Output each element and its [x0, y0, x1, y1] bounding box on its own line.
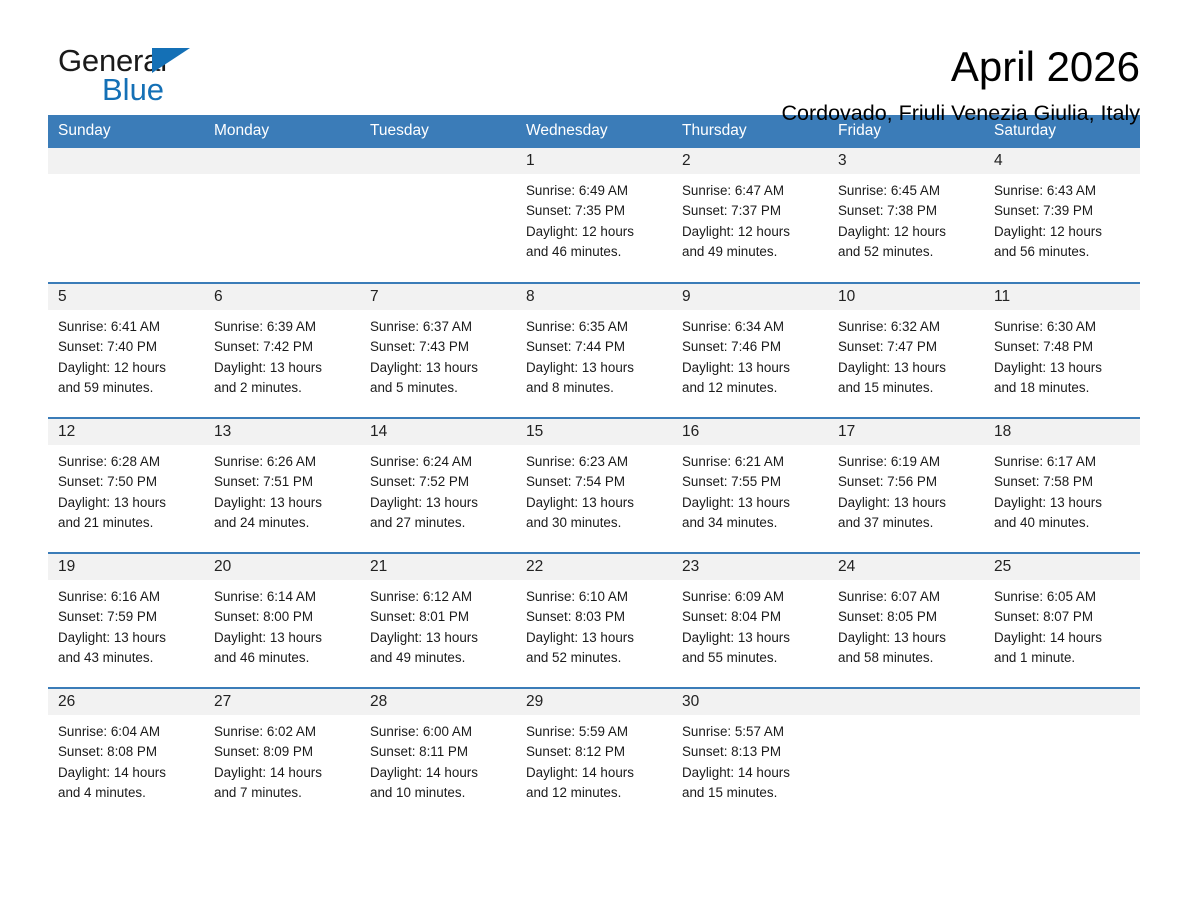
daylight-text-line2: and 52 minutes.: [838, 242, 974, 262]
daylight-text-line2: and 30 minutes.: [526, 513, 662, 533]
calendar-day-cell[interactable]: 28Sunrise: 6:00 AMSunset: 8:11 PMDayligh…: [360, 688, 516, 823]
daylight-text-line2: and 10 minutes.: [370, 783, 506, 803]
calendar-week-row: 1Sunrise: 6:49 AMSunset: 7:35 PMDaylight…: [48, 148, 1140, 283]
sunrise-text: Sunrise: 6:41 AM: [58, 317, 194, 337]
day-details: Sunrise: 6:41 AMSunset: 7:40 PMDaylight:…: [48, 310, 204, 399]
daylight-text-line1: Daylight: 13 hours: [370, 358, 506, 378]
sunset-text: Sunset: 8:03 PM: [526, 607, 662, 627]
sunrise-text: Sunrise: 6:09 AM: [682, 587, 818, 607]
daylight-text-line2: and 21 minutes.: [58, 513, 194, 533]
calendar-week-row: 19Sunrise: 6:16 AMSunset: 7:59 PMDayligh…: [48, 553, 1140, 688]
day-number: 12: [48, 419, 204, 445]
sunset-text: Sunset: 8:04 PM: [682, 607, 818, 627]
sunset-text: Sunset: 7:39 PM: [994, 201, 1130, 221]
day-number: 8: [516, 284, 672, 310]
sunrise-text: Sunrise: 6:16 AM: [58, 587, 194, 607]
daylight-text-line2: and 18 minutes.: [994, 378, 1130, 398]
sunset-text: Sunset: 7:55 PM: [682, 472, 818, 492]
day-details: Sunrise: 6:30 AMSunset: 7:48 PMDaylight:…: [984, 310, 1140, 399]
daylight-text-line1: Daylight: 12 hours: [526, 222, 662, 242]
day-number: 27: [204, 689, 360, 715]
page-header: General Blue April 2026 Cordovado, Friul…: [0, 0, 1188, 115]
sunset-text: Sunset: 7:44 PM: [526, 337, 662, 357]
day-number: 23: [672, 554, 828, 580]
sunrise-text: Sunrise: 6:00 AM: [370, 722, 506, 742]
calendar-day-cell[interactable]: 8Sunrise: 6:35 AMSunset: 7:44 PMDaylight…: [516, 283, 672, 418]
daylight-text-line1: Daylight: 13 hours: [526, 493, 662, 513]
day-number: 13: [204, 419, 360, 445]
sunset-text: Sunset: 7:50 PM: [58, 472, 194, 492]
sunset-text: Sunset: 8:12 PM: [526, 742, 662, 762]
sunset-text: Sunset: 7:47 PM: [838, 337, 974, 357]
day-details: Sunrise: 6:39 AMSunset: 7:42 PMDaylight:…: [204, 310, 360, 399]
sunrise-text: Sunrise: 6:12 AM: [370, 587, 506, 607]
day-details: Sunrise: 6:16 AMSunset: 7:59 PMDaylight:…: [48, 580, 204, 669]
calendar-day-cell[interactable]: 17Sunrise: 6:19 AMSunset: 7:56 PMDayligh…: [828, 418, 984, 553]
sunrise-text: Sunrise: 6:02 AM: [214, 722, 350, 742]
calendar-day-cell-empty: [48, 148, 204, 283]
daylight-text-line2: and 46 minutes.: [214, 648, 350, 668]
day-number: [828, 689, 984, 715]
sunrise-text: Sunrise: 6:17 AM: [994, 452, 1130, 472]
calendar-day-cell[interactable]: 25Sunrise: 6:05 AMSunset: 8:07 PMDayligh…: [984, 553, 1140, 688]
calendar-day-cell[interactable]: 6Sunrise: 6:39 AMSunset: 7:42 PMDaylight…: [204, 283, 360, 418]
day-details: Sunrise: 6:49 AMSunset: 7:35 PMDaylight:…: [516, 174, 672, 263]
daylight-text-line2: and 52 minutes.: [526, 648, 662, 668]
day-details: Sunrise: 6:09 AMSunset: 8:04 PMDaylight:…: [672, 580, 828, 669]
calendar-day-cell-empty: [360, 148, 516, 283]
day-number: [984, 689, 1140, 715]
daylight-text-line2: and 58 minutes.: [838, 648, 974, 668]
daylight-text-line2: and 24 minutes.: [214, 513, 350, 533]
daylight-text-line1: Daylight: 12 hours: [994, 222, 1130, 242]
day-details: Sunrise: 6:04 AMSunset: 8:08 PMDaylight:…: [48, 715, 204, 804]
sunrise-text: Sunrise: 6:26 AM: [214, 452, 350, 472]
sunrise-text: Sunrise: 6:19 AM: [838, 452, 974, 472]
calendar-day-cell[interactable]: 30Sunrise: 5:57 AMSunset: 8:13 PMDayligh…: [672, 688, 828, 823]
daylight-text-line2: and 4 minutes.: [58, 783, 194, 803]
day-details: Sunrise: 6:34 AMSunset: 7:46 PMDaylight:…: [672, 310, 828, 399]
day-number: 9: [672, 284, 828, 310]
sunset-text: Sunset: 7:38 PM: [838, 201, 974, 221]
sunrise-text: Sunrise: 6:47 AM: [682, 181, 818, 201]
logo-text-blue: Blue: [102, 74, 164, 105]
daylight-text-line1: Daylight: 14 hours: [682, 763, 818, 783]
sunset-text: Sunset: 8:07 PM: [994, 607, 1130, 627]
daylight-text-line1: Daylight: 13 hours: [214, 493, 350, 513]
sunset-text: Sunset: 8:05 PM: [838, 607, 974, 627]
sunrise-text: Sunrise: 6:23 AM: [526, 452, 662, 472]
weekday-header-tuesday: Tuesday: [360, 115, 516, 148]
calendar-day-cell[interactable]: 29Sunrise: 5:59 AMSunset: 8:12 PMDayligh…: [516, 688, 672, 823]
daylight-text-line1: Daylight: 12 hours: [682, 222, 818, 242]
day-number: 28: [360, 689, 516, 715]
sunset-text: Sunset: 7:56 PM: [838, 472, 974, 492]
day-details: Sunrise: 6:37 AMSunset: 7:43 PMDaylight:…: [360, 310, 516, 399]
calendar-day-cell[interactable]: 21Sunrise: 6:12 AMSunset: 8:01 PMDayligh…: [360, 553, 516, 688]
sunrise-text: Sunrise: 6:10 AM: [526, 587, 662, 607]
sunrise-text: Sunrise: 6:07 AM: [838, 587, 974, 607]
sunset-text: Sunset: 7:40 PM: [58, 337, 194, 357]
day-number: 29: [516, 689, 672, 715]
daylight-text-line1: Daylight: 13 hours: [994, 358, 1130, 378]
sunrise-text: Sunrise: 6:24 AM: [370, 452, 506, 472]
sunset-text: Sunset: 7:35 PM: [526, 201, 662, 221]
calendar-day-cell[interactable]: 18Sunrise: 6:17 AMSunset: 7:58 PMDayligh…: [984, 418, 1140, 553]
daylight-text-line1: Daylight: 14 hours: [370, 763, 506, 783]
calendar-container: Sunday Monday Tuesday Wednesday Thursday…: [48, 115, 1140, 823]
day-details: Sunrise: 6:24 AMSunset: 7:52 PMDaylight:…: [360, 445, 516, 534]
sunrise-text: Sunrise: 6:37 AM: [370, 317, 506, 337]
weekday-header-wednesday: Wednesday: [516, 115, 672, 148]
daylight-text-line1: Daylight: 13 hours: [526, 358, 662, 378]
day-number: [360, 148, 516, 174]
location-subtitle: Cordovado, Friuli Venezia Giulia, Italy: [781, 101, 1140, 126]
sunrise-text: Sunrise: 5:59 AM: [526, 722, 662, 742]
daylight-text-line2: and 55 minutes.: [682, 648, 818, 668]
daylight-text-line2: and 34 minutes.: [682, 513, 818, 533]
sunset-text: Sunset: 7:43 PM: [370, 337, 506, 357]
day-details: Sunrise: 5:59 AMSunset: 8:12 PMDaylight:…: [516, 715, 672, 804]
day-number: 10: [828, 284, 984, 310]
daylight-text-line2: and 8 minutes.: [526, 378, 662, 398]
sunset-text: Sunset: 8:08 PM: [58, 742, 194, 762]
day-details: Sunrise: 6:26 AMSunset: 7:51 PMDaylight:…: [204, 445, 360, 534]
daylight-text-line2: and 27 minutes.: [370, 513, 506, 533]
day-details: Sunrise: 6:17 AMSunset: 7:58 PMDaylight:…: [984, 445, 1140, 534]
daylight-text-line2: and 15 minutes.: [838, 378, 974, 398]
calendar-day-cell[interactable]: 11Sunrise: 6:30 AMSunset: 7:48 PMDayligh…: [984, 283, 1140, 418]
sunset-text: Sunset: 7:46 PM: [682, 337, 818, 357]
daylight-text-line1: Daylight: 13 hours: [838, 493, 974, 513]
daylight-text-line1: Daylight: 13 hours: [838, 628, 974, 648]
sunset-text: Sunset: 8:09 PM: [214, 742, 350, 762]
daylight-text-line2: and 5 minutes.: [370, 378, 506, 398]
day-details: Sunrise: 6:05 AMSunset: 8:07 PMDaylight:…: [984, 580, 1140, 669]
day-number: 25: [984, 554, 1140, 580]
calendar-day-cell[interactable]: 20Sunrise: 6:14 AMSunset: 8:00 PMDayligh…: [204, 553, 360, 688]
calendar-day-cell[interactable]: 15Sunrise: 6:23 AMSunset: 7:54 PMDayligh…: [516, 418, 672, 553]
day-number: 21: [360, 554, 516, 580]
daylight-text-line2: and 43 minutes.: [58, 648, 194, 668]
calendar-day-cell[interactable]: 12Sunrise: 6:28 AMSunset: 7:50 PMDayligh…: [48, 418, 204, 553]
title-block: April 2026 Cordovado, Friuli Venezia Giu…: [781, 45, 1140, 126]
calendar-week-row: 26Sunrise: 6:04 AMSunset: 8:08 PMDayligh…: [48, 688, 1140, 823]
calendar-day-cell[interactable]: 1Sunrise: 6:49 AMSunset: 7:35 PMDaylight…: [516, 148, 672, 283]
daylight-text-line2: and 49 minutes.: [370, 648, 506, 668]
daylight-text-line1: Daylight: 13 hours: [682, 628, 818, 648]
daylight-text-line1: Daylight: 13 hours: [214, 628, 350, 648]
calendar-day-cell[interactable]: 13Sunrise: 6:26 AMSunset: 7:51 PMDayligh…: [204, 418, 360, 553]
calendar-day-cell[interactable]: 16Sunrise: 6:21 AMSunset: 7:55 PMDayligh…: [672, 418, 828, 553]
sunrise-text: Sunrise: 6:32 AM: [838, 317, 974, 337]
calendar-day-cell[interactable]: 19Sunrise: 6:16 AMSunset: 7:59 PMDayligh…: [48, 553, 204, 688]
sunset-text: Sunset: 8:00 PM: [214, 607, 350, 627]
day-number: 30: [672, 689, 828, 715]
sunrise-text: Sunrise: 6:14 AM: [214, 587, 350, 607]
day-details: Sunrise: 6:00 AMSunset: 8:11 PMDaylight:…: [360, 715, 516, 804]
sunrise-text: Sunrise: 6:21 AM: [682, 452, 818, 472]
day-number: 26: [48, 689, 204, 715]
daylight-text-line2: and 12 minutes.: [526, 783, 662, 803]
logo-triangle-icon: [152, 48, 190, 73]
calendar-week-row: 12Sunrise: 6:28 AMSunset: 7:50 PMDayligh…: [48, 418, 1140, 553]
calendar-week-row: 5Sunrise: 6:41 AMSunset: 7:40 PMDaylight…: [48, 283, 1140, 418]
day-number: 1: [516, 148, 672, 174]
sunrise-text: Sunrise: 6:39 AM: [214, 317, 350, 337]
sunset-text: Sunset: 7:59 PM: [58, 607, 194, 627]
day-number: 22: [516, 554, 672, 580]
daylight-text-line1: Daylight: 13 hours: [838, 358, 974, 378]
daylight-text-line1: Daylight: 13 hours: [994, 493, 1130, 513]
day-details: Sunrise: 6:21 AMSunset: 7:55 PMDaylight:…: [672, 445, 828, 534]
daylight-text-line1: Daylight: 13 hours: [370, 493, 506, 513]
day-number: [48, 148, 204, 174]
day-details: Sunrise: 6:02 AMSunset: 8:09 PMDaylight:…: [204, 715, 360, 804]
day-details: Sunrise: 6:47 AMSunset: 7:37 PMDaylight:…: [672, 174, 828, 263]
sunset-text: Sunset: 7:42 PM: [214, 337, 350, 357]
daylight-text-line1: Daylight: 13 hours: [526, 628, 662, 648]
calendar-day-cell[interactable]: 24Sunrise: 6:07 AMSunset: 8:05 PMDayligh…: [828, 553, 984, 688]
day-number: 20: [204, 554, 360, 580]
day-number: 24: [828, 554, 984, 580]
calendar-day-cell[interactable]: 23Sunrise: 6:09 AMSunset: 8:04 PMDayligh…: [672, 553, 828, 688]
calendar-day-cell[interactable]: 2Sunrise: 6:47 AMSunset: 7:37 PMDaylight…: [672, 148, 828, 283]
sunrise-text: Sunrise: 6:43 AM: [994, 181, 1130, 201]
daylight-text-line2: and 46 minutes.: [526, 242, 662, 262]
day-details: Sunrise: 6:19 AMSunset: 7:56 PMDaylight:…: [828, 445, 984, 534]
day-details: Sunrise: 6:07 AMSunset: 8:05 PMDaylight:…: [828, 580, 984, 669]
day-details: Sunrise: 6:12 AMSunset: 8:01 PMDaylight:…: [360, 580, 516, 669]
day-details: Sunrise: 6:43 AMSunset: 7:39 PMDaylight:…: [984, 174, 1140, 263]
sunrise-text: Sunrise: 6:45 AM: [838, 181, 974, 201]
calendar-body: 1Sunrise: 6:49 AMSunset: 7:35 PMDaylight…: [48, 148, 1140, 823]
sunset-text: Sunset: 7:52 PM: [370, 472, 506, 492]
day-details: Sunrise: 6:10 AMSunset: 8:03 PMDaylight:…: [516, 580, 672, 669]
sunset-text: Sunset: 7:48 PM: [994, 337, 1130, 357]
sunrise-text: Sunrise: 6:34 AM: [682, 317, 818, 337]
calendar-page: General Blue April 2026 Cordovado, Friul…: [0, 0, 1188, 918]
daylight-text-line2: and 40 minutes.: [994, 513, 1130, 533]
calendar-day-cell[interactable]: 26Sunrise: 6:04 AMSunset: 8:08 PMDayligh…: [48, 688, 204, 823]
day-number: 4: [984, 148, 1140, 174]
day-details: Sunrise: 6:23 AMSunset: 7:54 PMDaylight:…: [516, 445, 672, 534]
sunrise-text: Sunrise: 6:04 AM: [58, 722, 194, 742]
calendar-day-cell[interactable]: 22Sunrise: 6:10 AMSunset: 8:03 PMDayligh…: [516, 553, 672, 688]
daylight-text-line2: and 15 minutes.: [682, 783, 818, 803]
daylight-text-line1: Daylight: 13 hours: [214, 358, 350, 378]
sunrise-text: Sunrise: 5:57 AM: [682, 722, 818, 742]
daylight-text-line1: Daylight: 13 hours: [370, 628, 506, 648]
weekday-header-monday: Monday: [204, 115, 360, 148]
day-details: Sunrise: 6:35 AMSunset: 7:44 PMDaylight:…: [516, 310, 672, 399]
calendar-day-cell-empty: [204, 148, 360, 283]
day-number: 14: [360, 419, 516, 445]
day-number: 5: [48, 284, 204, 310]
day-details: Sunrise: 6:32 AMSunset: 7:47 PMDaylight:…: [828, 310, 984, 399]
daylight-text-line1: Daylight: 14 hours: [994, 628, 1130, 648]
sunrise-text: Sunrise: 6:28 AM: [58, 452, 194, 472]
calendar-day-cell[interactable]: 14Sunrise: 6:24 AMSunset: 7:52 PMDayligh…: [360, 418, 516, 553]
daylight-text-line2: and 49 minutes.: [682, 242, 818, 262]
day-details: Sunrise: 6:45 AMSunset: 7:38 PMDaylight:…: [828, 174, 984, 263]
day-number: 17: [828, 419, 984, 445]
day-number: 7: [360, 284, 516, 310]
day-number: [204, 148, 360, 174]
day-number: 16: [672, 419, 828, 445]
daylight-text-line2: and 59 minutes.: [58, 378, 194, 398]
sunrise-text: Sunrise: 6:49 AM: [526, 181, 662, 201]
day-number: 6: [204, 284, 360, 310]
calendar-table: Sunday Monday Tuesday Wednesday Thursday…: [48, 115, 1140, 823]
calendar-day-cell[interactable]: 10Sunrise: 6:32 AMSunset: 7:47 PMDayligh…: [828, 283, 984, 418]
daylight-text-line1: Daylight: 13 hours: [682, 358, 818, 378]
day-number: 15: [516, 419, 672, 445]
day-number: 18: [984, 419, 1140, 445]
calendar-day-cell[interactable]: 9Sunrise: 6:34 AMSunset: 7:46 PMDaylight…: [672, 283, 828, 418]
sunset-text: Sunset: 8:13 PM: [682, 742, 818, 762]
daylight-text-line1: Daylight: 12 hours: [838, 222, 974, 242]
sunset-text: Sunset: 7:54 PM: [526, 472, 662, 492]
daylight-text-line2: and 1 minute.: [994, 648, 1130, 668]
sunrise-text: Sunrise: 6:05 AM: [994, 587, 1130, 607]
day-details: Sunrise: 5:57 AMSunset: 8:13 PMDaylight:…: [672, 715, 828, 804]
sunset-text: Sunset: 7:51 PM: [214, 472, 350, 492]
day-number: 2: [672, 148, 828, 174]
day-details: Sunrise: 6:28 AMSunset: 7:50 PMDaylight:…: [48, 445, 204, 534]
calendar-day-cell[interactable]: 4Sunrise: 6:43 AMSunset: 7:39 PMDaylight…: [984, 148, 1140, 283]
daylight-text-line1: Daylight: 13 hours: [58, 493, 194, 513]
calendar-day-cell[interactable]: 7Sunrise: 6:37 AMSunset: 7:43 PMDaylight…: [360, 283, 516, 418]
daylight-text-line1: Daylight: 12 hours: [58, 358, 194, 378]
calendar-day-cell[interactable]: 3Sunrise: 6:45 AMSunset: 7:38 PMDaylight…: [828, 148, 984, 283]
daylight-text-line1: Daylight: 14 hours: [214, 763, 350, 783]
daylight-text-line1: Daylight: 14 hours: [58, 763, 194, 783]
sunrise-text: Sunrise: 6:30 AM: [994, 317, 1130, 337]
calendar-day-cell-empty: [984, 688, 1140, 823]
daylight-text-line2: and 12 minutes.: [682, 378, 818, 398]
day-number: 19: [48, 554, 204, 580]
page-title: April 2026: [781, 45, 1140, 89]
sunset-text: Sunset: 8:11 PM: [370, 742, 506, 762]
sunset-text: Sunset: 7:37 PM: [682, 201, 818, 221]
daylight-text-line2: and 7 minutes.: [214, 783, 350, 803]
generalblue-logo[interactable]: General Blue: [58, 45, 218, 115]
calendar-day-cell-empty: [828, 688, 984, 823]
calendar-day-cell[interactable]: 5Sunrise: 6:41 AMSunset: 7:40 PMDaylight…: [48, 283, 204, 418]
weekday-header-sunday: Sunday: [48, 115, 204, 148]
daylight-text-line1: Daylight: 13 hours: [682, 493, 818, 513]
daylight-text-line2: and 37 minutes.: [838, 513, 974, 533]
sunset-text: Sunset: 7:58 PM: [994, 472, 1130, 492]
daylight-text-line1: Daylight: 13 hours: [58, 628, 194, 648]
day-details: Sunrise: 6:14 AMSunset: 8:00 PMDaylight:…: [204, 580, 360, 669]
sunset-text: Sunset: 8:01 PM: [370, 607, 506, 627]
calendar-day-cell[interactable]: 27Sunrise: 6:02 AMSunset: 8:09 PMDayligh…: [204, 688, 360, 823]
day-number: 11: [984, 284, 1140, 310]
day-number: 3: [828, 148, 984, 174]
daylight-text-line2: and 56 minutes.: [994, 242, 1130, 262]
daylight-text-line2: and 2 minutes.: [214, 378, 350, 398]
daylight-text-line1: Daylight: 14 hours: [526, 763, 662, 783]
sunrise-text: Sunrise: 6:35 AM: [526, 317, 662, 337]
